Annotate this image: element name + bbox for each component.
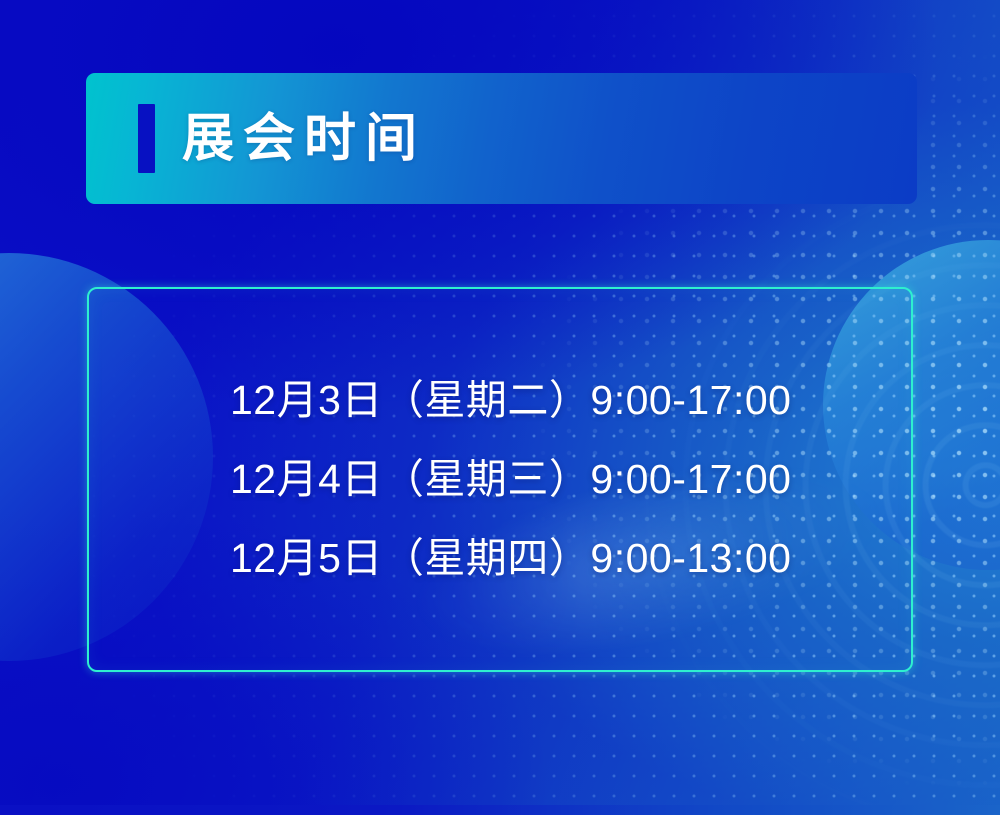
section-header-bar: 展会时间 (86, 73, 917, 204)
schedule-card: 12月3日（星期二）9:00-17:00 12月4日（星期三）9:00-17:0… (87, 287, 913, 672)
schedule-item: 12月4日（星期三）9:00-17:00 (230, 440, 911, 519)
schedule-list: 12月3日（星期二）9:00-17:00 12月4日（星期三）9:00-17:0… (89, 361, 911, 598)
header-accent-bar (138, 104, 155, 173)
page-title: 展会时间 (182, 113, 426, 165)
bottom-edge-tint (0, 805, 1000, 815)
schedule-item: 12月3日（星期二）9:00-17:00 (230, 361, 911, 440)
schedule-item: 12月5日（星期四）9:00-13:00 (230, 519, 911, 598)
exhibition-schedule-poster: 展会时间 12月3日（星期二）9:00-17:00 12月4日（星期三）9:00… (0, 0, 1000, 815)
